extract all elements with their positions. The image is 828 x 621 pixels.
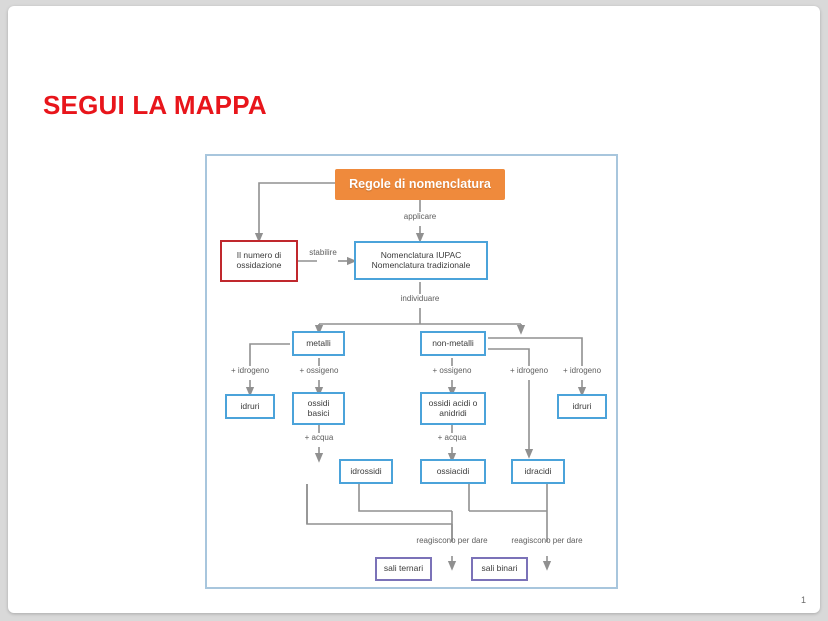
- node-non-metalli[interactable]: non-metalli: [420, 331, 486, 356]
- node-idracidi[interactable]: idracidi: [511, 459, 565, 484]
- node-label: ossidi acidi oanidridi: [429, 399, 478, 419]
- node-label: ossidibasici: [308, 399, 330, 419]
- node-sali-ternari[interactable]: sali ternari: [375, 557, 432, 581]
- node-label: Regole di nomenclatura: [349, 177, 491, 191]
- node-ossidi-basici[interactable]: ossidibasici: [292, 392, 345, 425]
- edge-label-acqua-2: + acqua: [425, 433, 479, 442]
- node-idruri-right[interactable]: idruri: [557, 394, 607, 419]
- edge-label-reagiscono-1: reagiscono per dare: [399, 536, 505, 545]
- node-sali-binari[interactable]: sali binari: [471, 557, 528, 581]
- edge-label-ossigeno-1: + ossigeno: [286, 366, 352, 375]
- node-numero-ossidazione[interactable]: Il numero diossidazione: [220, 240, 298, 282]
- edge-label-acqua-1: + acqua: [292, 433, 346, 442]
- node-metalli[interactable]: metalli: [292, 331, 345, 356]
- edge-label-stabilire: stabilire: [297, 248, 349, 257]
- edge-label-idrogeno-3: + idrogeno: [549, 366, 615, 375]
- node-label: Il numero diossidazione: [237, 251, 282, 271]
- node-nomenclature[interactable]: Nomenclatura IUPACNomenclatura tradizion…: [354, 241, 488, 280]
- edge-label-individuare: individuare: [385, 294, 455, 303]
- node-label: idruri: [573, 402, 592, 412]
- page-title: SEGUI LA MAPPA: [43, 90, 267, 121]
- node-idruri-left[interactable]: idruri: [225, 394, 275, 419]
- node-idrossidi[interactable]: idrossidi: [339, 459, 393, 484]
- edge-label-applicare: applicare: [390, 212, 450, 221]
- edge-label-ossigeno-2: + ossigeno: [419, 366, 485, 375]
- node-ossiacidi[interactable]: ossiacidi: [420, 459, 486, 484]
- node-ossidi-acidi-anidridi[interactable]: ossidi acidi oanidridi: [420, 392, 486, 425]
- node-label: sali binari: [482, 564, 518, 574]
- node-label: idracidi: [525, 467, 552, 477]
- slide-card: SEGUI LA MAPPA: [8, 6, 820, 613]
- node-label: ossiacidi: [437, 467, 470, 477]
- concept-map-diagram: Regole di nomenclatura Il numero diossid…: [205, 154, 618, 589]
- edge-label-idrogeno-1: + idrogeno: [217, 366, 283, 375]
- page-number: 1: [801, 595, 806, 605]
- node-label: idruri: [241, 402, 260, 412]
- node-label: metalli: [306, 339, 331, 349]
- node-label: Nomenclatura IUPACNomenclatura tradizion…: [372, 251, 471, 271]
- edge-label-reagiscono-2: reagiscono per dare: [494, 536, 600, 545]
- node-regole-di-nomenclatura[interactable]: Regole di nomenclatura: [335, 169, 505, 200]
- node-label: non-metalli: [432, 339, 474, 349]
- node-label: sali ternari: [384, 564, 423, 574]
- node-label: idrossidi: [350, 467, 381, 477]
- diagram-canvas: Regole di nomenclatura Il numero diossid…: [207, 156, 616, 587]
